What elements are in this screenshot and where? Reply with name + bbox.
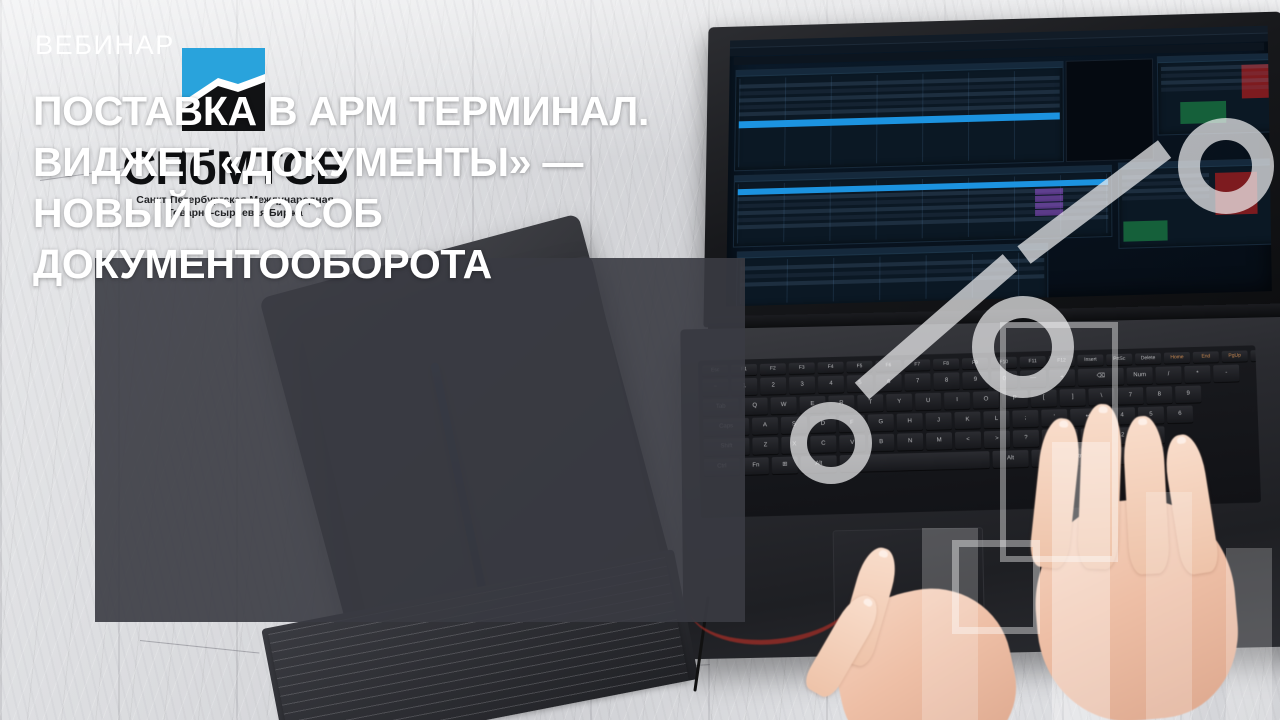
key-s: S [781, 416, 807, 434]
key-i: I [944, 392, 970, 410]
highlight-cell [1035, 188, 1063, 195]
key-9: 9 [962, 372, 988, 390]
key-2: 2 [760, 377, 786, 395]
table-row [1122, 187, 1209, 193]
eyebrow-label: ВЕБИНАР [35, 30, 175, 61]
key-home: Home [1164, 352, 1190, 364]
key-0: 0 [991, 371, 1017, 389]
highlight-cell [1035, 195, 1063, 202]
right-hand [1010, 390, 1280, 720]
key-d: D [810, 415, 836, 433]
key-delete: Delete [1135, 353, 1161, 365]
key-o: O [973, 391, 999, 409]
key-q: Q [742, 398, 768, 416]
key-m: M [926, 432, 952, 450]
key-windows: ⊞ [772, 456, 798, 474]
key-v: V [839, 435, 865, 453]
red-price-block [1215, 172, 1258, 215]
key-z: Z [752, 437, 778, 455]
key-insert: Insert [1077, 354, 1103, 366]
key-a: A [752, 417, 778, 435]
highlight-cell [1035, 202, 1063, 209]
green-price-block [1180, 101, 1226, 124]
key-f8: F8 [933, 358, 959, 370]
key-u: U [915, 393, 941, 411]
key-numlock: Num [1127, 367, 1153, 385]
key-minus: — [1020, 370, 1046, 388]
panel-header [1158, 53, 1272, 63]
key-8: 8 [933, 372, 959, 390]
fingernail [1058, 420, 1068, 428]
key-pgup: PgUp [1222, 350, 1248, 362]
key-numpad-divide: / [1155, 366, 1181, 384]
highlight-cell [1035, 209, 1063, 216]
key-g: G [868, 414, 894, 432]
right-middle-finger [1077, 403, 1123, 569]
key-f10: F10 [991, 357, 1017, 369]
right-ring-finger [1122, 415, 1170, 575]
key-prtsc: PrtSc [1106, 354, 1132, 366]
key-6: 6 [876, 374, 902, 392]
key-space [840, 451, 990, 472]
fingernail [1099, 406, 1108, 413]
key-5: 5 [847, 375, 873, 393]
key-4: 4 [818, 376, 844, 394]
terminal-quotes-panel [1157, 52, 1272, 136]
key-end: End [1193, 351, 1219, 363]
key-f9: F9 [962, 358, 988, 370]
terminal-depth-panel [1118, 157, 1272, 249]
key-e: E [799, 396, 825, 414]
table-row [1122, 173, 1209, 179]
key-f5: F5 [846, 361, 872, 373]
key-f6: F6 [875, 360, 901, 372]
key-f7: F7 [904, 359, 930, 371]
key-numpad-multiply: * [1184, 365, 1210, 383]
fingernail [878, 549, 889, 558]
key-f4: F4 [818, 362, 844, 374]
key-x: X [781, 436, 807, 454]
key-f12: F12 [1048, 355, 1074, 367]
key-numpad-minus: - [1213, 365, 1239, 383]
key-7: 7 [905, 373, 931, 391]
fingernail [863, 597, 874, 608]
key-period: > [984, 431, 1010, 449]
title-panel [95, 258, 745, 622]
key-b: B [868, 434, 894, 452]
key-pgdn: PgDn [1250, 350, 1261, 362]
key-r: R [828, 395, 854, 413]
terminal-empty-panel [1066, 58, 1154, 162]
table-row [1122, 194, 1209, 200]
key-3: 3 [789, 376, 815, 394]
webinar-title-card: Esc F1 F2 F3 F4 F5 F6 F7 F8 F9 F10 F11 F… [0, 0, 1280, 720]
key-backspace: ⌫ [1078, 368, 1124, 386]
green-price-block [1123, 220, 1167, 241]
key-t: T [857, 394, 883, 412]
key-k: K [954, 411, 980, 429]
key-f: F [839, 415, 865, 433]
key-j: J [925, 412, 951, 430]
key-l: L [983, 411, 1009, 429]
key-f11: F11 [1020, 356, 1046, 368]
key-f3: F3 [789, 362, 815, 374]
key-fn: Fn [743, 457, 769, 475]
key-f2: F2 [760, 363, 786, 375]
table-row [1122, 180, 1209, 186]
key-plus: + [1049, 369, 1075, 387]
fingernail [1138, 418, 1147, 425]
key-y: Y [886, 393, 912, 411]
page-title: ПОСТАВКА В АРМ ТЕРМИНАЛ. ВИДЖЕТ «ДОКУМЕН… [33, 86, 933, 290]
key-n: N [897, 433, 923, 451]
key-h: H [897, 413, 923, 431]
key-c: C [810, 435, 836, 453]
key-comma: < [955, 431, 981, 449]
key-w: W [770, 397, 796, 415]
fingernail [1176, 436, 1186, 444]
